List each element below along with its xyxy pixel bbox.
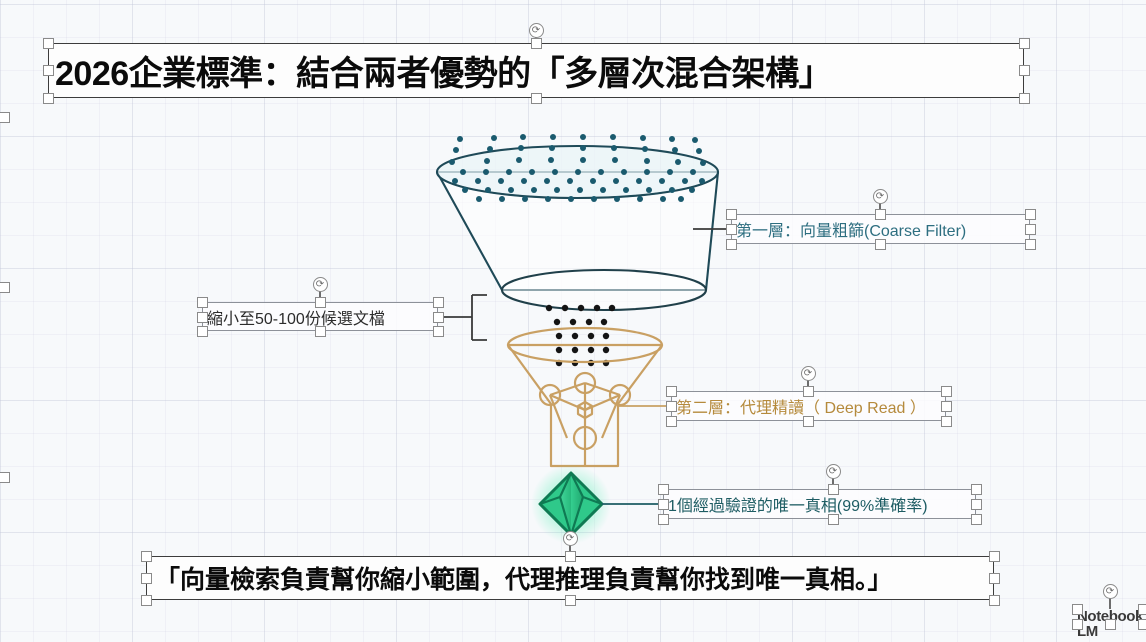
resize-handle[interactable] <box>433 326 444 337</box>
resize-handle[interactable] <box>875 239 886 250</box>
resize-handle[interactable] <box>197 297 208 308</box>
resize-handle[interactable] <box>315 297 326 308</box>
rotate-handle[interactable]: ⟳ <box>1103 584 1118 599</box>
resize-handle[interactable] <box>1025 224 1036 235</box>
resize-handle[interactable] <box>971 499 982 510</box>
resize-handle[interactable] <box>971 484 982 495</box>
resize-handle[interactable] <box>433 297 444 308</box>
diagram-canvas[interactable]: 2026企業標準：結合兩者優勢的「多層次混合架構」 「向量檢索負責幫你縮小範圍，… <box>0 0 1146 642</box>
resize-handle[interactable] <box>1019 65 1030 76</box>
resize-handle[interactable] <box>1072 619 1083 630</box>
resize-handle[interactable] <box>1025 239 1036 250</box>
resize-handle[interactable] <box>141 595 152 606</box>
resize-handle[interactable] <box>0 282 10 293</box>
resize-handle[interactable] <box>1138 604 1146 615</box>
resize-handle[interactable] <box>1019 38 1030 49</box>
summary-quote[interactable]: 「向量檢索負責幫你縮小範圍，代理推理負責幫你找到唯一真相。」 <box>146 556 994 600</box>
resize-handle[interactable] <box>941 401 952 412</box>
resize-handle[interactable] <box>1105 619 1116 630</box>
rotate-handle[interactable]: ⟳ <box>529 23 544 38</box>
resize-handle[interactable] <box>315 326 326 337</box>
resize-handle[interactable] <box>565 595 576 606</box>
resize-handle[interactable] <box>971 514 982 525</box>
resize-handle[interactable] <box>1138 619 1146 630</box>
resize-handle[interactable] <box>531 38 542 49</box>
resize-handle[interactable] <box>726 209 737 220</box>
resize-handle[interactable] <box>658 484 669 495</box>
resize-handle[interactable] <box>875 209 886 220</box>
page-title[interactable]: 2026企業標準：結合兩者優勢的「多層次混合架構」 <box>48 43 1024 98</box>
resize-handle[interactable] <box>658 499 669 510</box>
resize-handle[interactable] <box>658 514 669 525</box>
resize-handle[interactable] <box>941 386 952 397</box>
resize-handle[interactable] <box>197 326 208 337</box>
resize-handle[interactable] <box>141 551 152 562</box>
resize-handle[interactable] <box>828 514 839 525</box>
rotate-handle[interactable]: ⟳ <box>563 531 578 546</box>
resize-handle[interactable] <box>726 239 737 250</box>
resize-handle[interactable] <box>989 573 1000 584</box>
resize-handle[interactable] <box>43 38 54 49</box>
resize-handle[interactable] <box>565 551 576 562</box>
resize-handle[interactable] <box>666 386 677 397</box>
resize-handle[interactable] <box>43 93 54 104</box>
resize-handle[interactable] <box>1072 604 1083 615</box>
resize-handle[interactable] <box>803 386 814 397</box>
resize-handle[interactable] <box>141 573 152 584</box>
resize-handle[interactable] <box>433 312 444 323</box>
annotation-layer: 2026企業標準：結合兩者優勢的「多層次混合架構」 「向量檢索負責幫你縮小範圍，… <box>0 0 1146 642</box>
resize-handle[interactable] <box>1019 93 1030 104</box>
resize-handle[interactable] <box>666 401 677 412</box>
resize-handle[interactable] <box>828 484 839 495</box>
rotate-handle[interactable]: ⟳ <box>826 464 841 479</box>
rotate-handle[interactable]: ⟳ <box>801 366 816 381</box>
resize-handle[interactable] <box>43 65 54 76</box>
resize-handle[interactable] <box>531 93 542 104</box>
resize-handle[interactable] <box>1025 209 1036 220</box>
resize-handle[interactable] <box>0 112 10 123</box>
resize-handle[interactable] <box>989 595 1000 606</box>
resize-handle[interactable] <box>803 416 814 427</box>
resize-handle[interactable] <box>0 472 10 483</box>
label-single-truth[interactable]: 1個經過驗證的唯一真相(99%準確率) <box>663 489 976 519</box>
resize-handle[interactable] <box>941 416 952 427</box>
rotate-handle[interactable]: ⟳ <box>313 277 328 292</box>
resize-handle[interactable] <box>989 551 1000 562</box>
resize-handle[interactable] <box>197 312 208 323</box>
resize-handle[interactable] <box>666 416 677 427</box>
resize-handle[interactable] <box>726 224 737 235</box>
rotate-handle[interactable]: ⟳ <box>873 189 888 204</box>
